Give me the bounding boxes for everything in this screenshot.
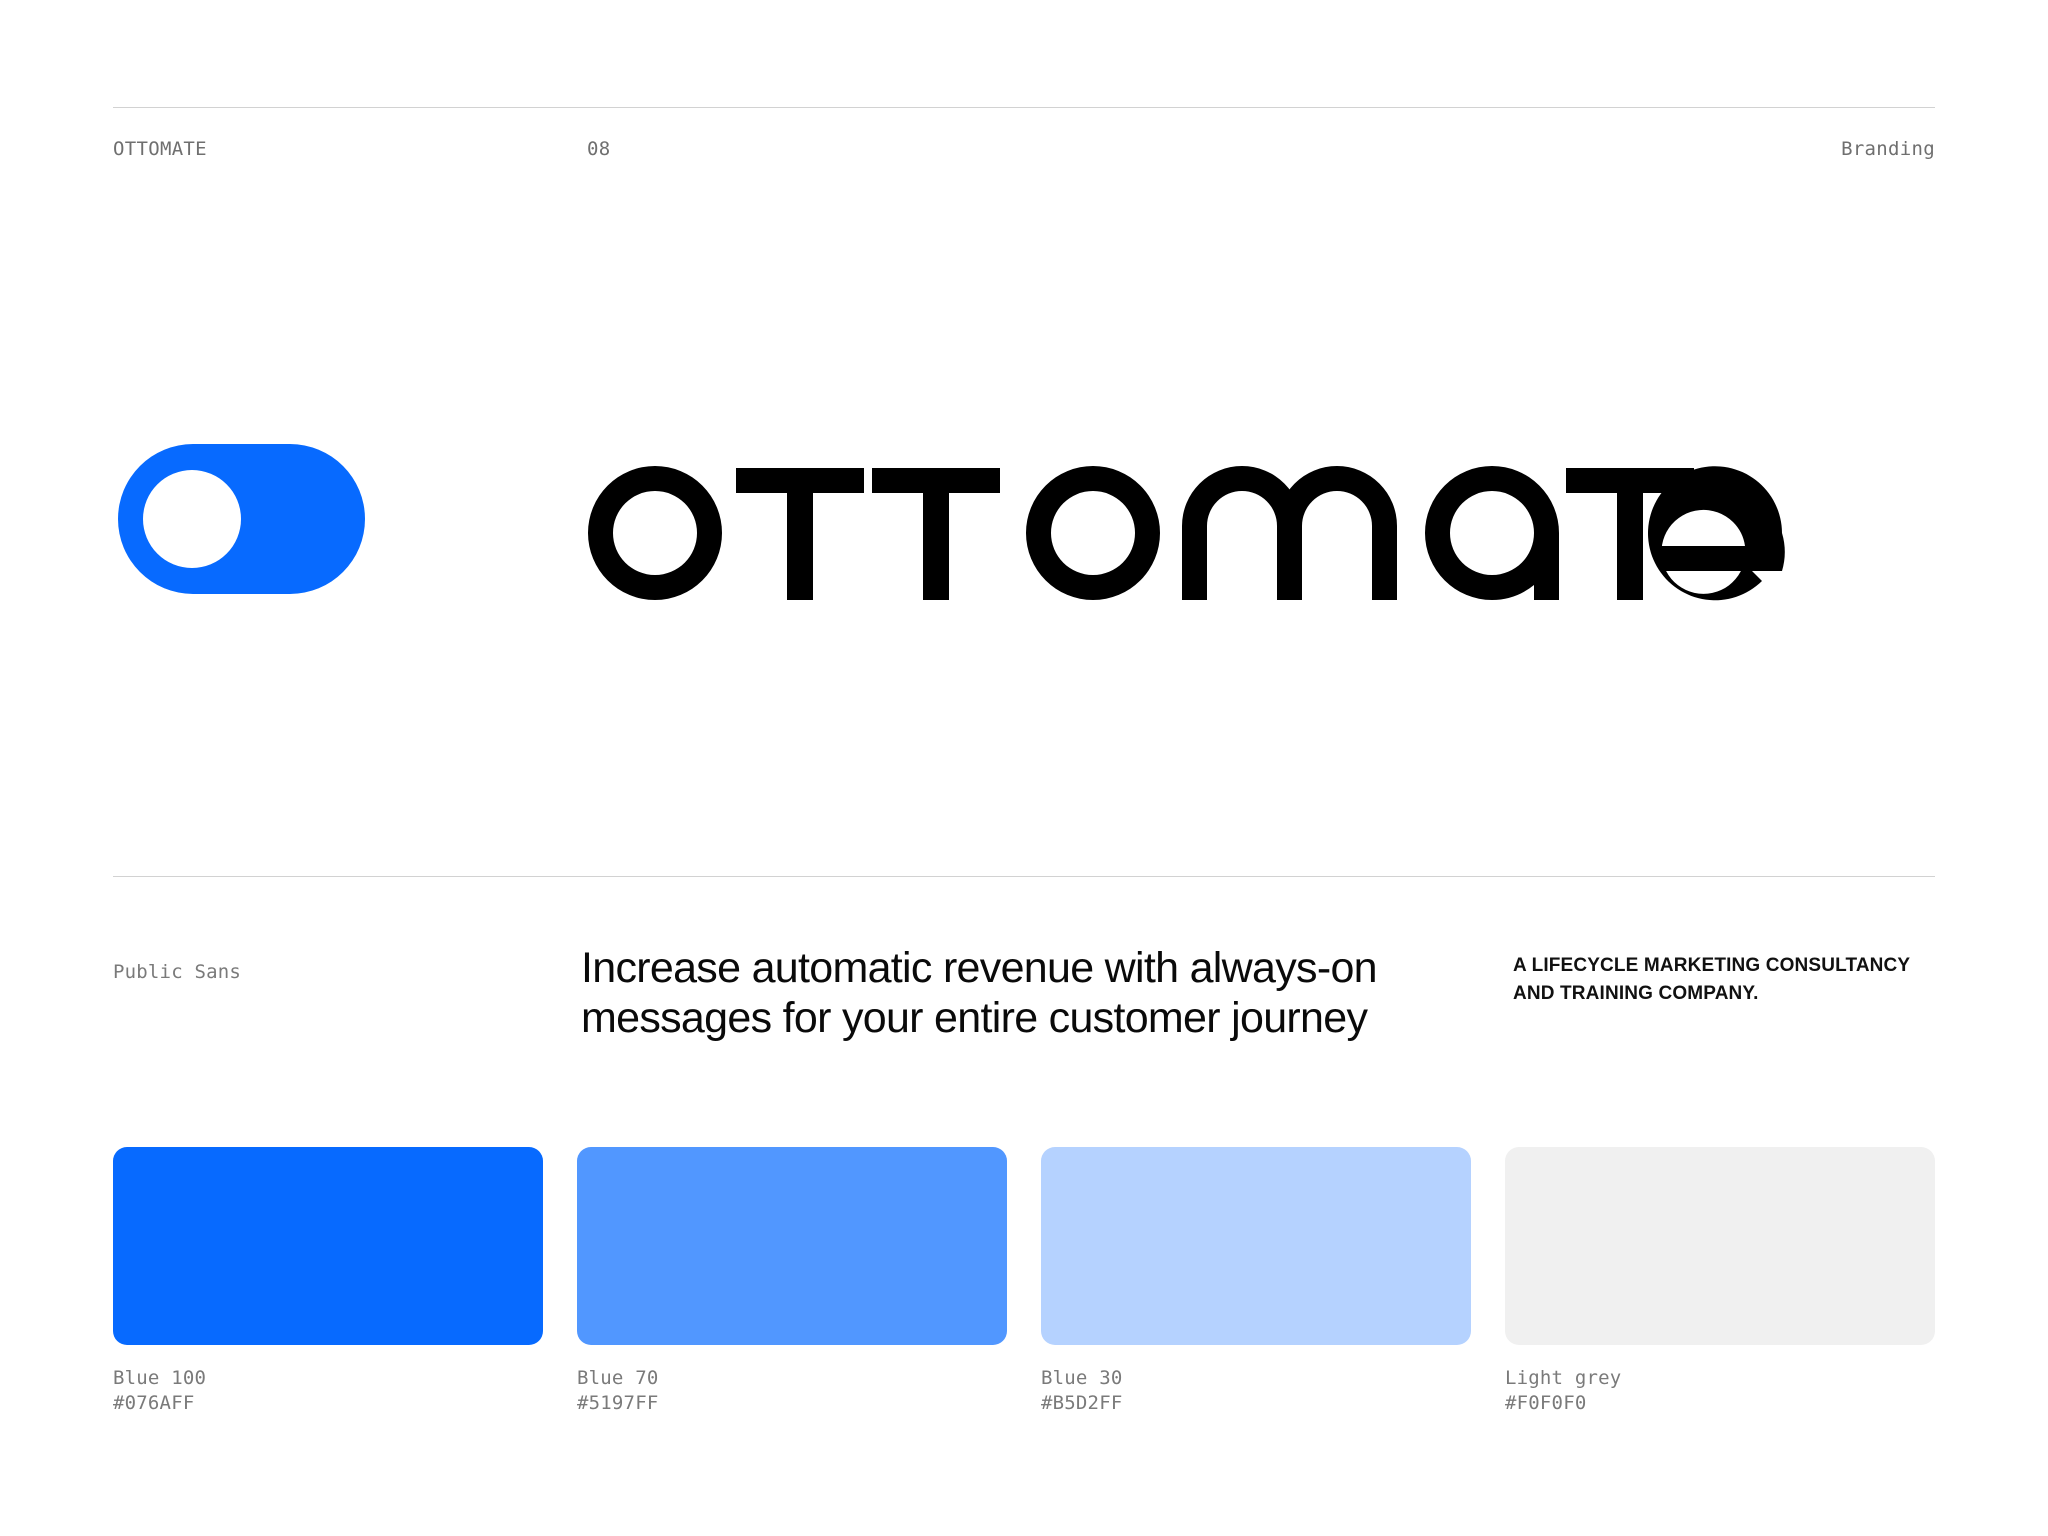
header-divider: [113, 107, 1935, 108]
swatch-name: Blue 30: [1041, 1366, 1471, 1391]
swatch-hex: #B5D2FF: [1041, 1391, 1471, 1416]
swatch-chip-light-grey: [1505, 1147, 1935, 1345]
logo-lockup: [113, 430, 1935, 620]
swatch-name: Light grey: [1505, 1366, 1935, 1391]
typography-section: Public Sans Increase automatic revenue w…: [113, 955, 1935, 1075]
swatch-hex: #5197FF: [577, 1391, 1007, 1416]
header-section-label: Branding: [1841, 138, 1935, 160]
swatch-name: Blue 100: [113, 1366, 543, 1391]
color-swatch: Blue 70 #5197FF: [577, 1147, 1007, 1417]
specimen-line-2: messages for your entire customer journe…: [581, 993, 1381, 1043]
descriptor-line-1: A LIFECYCLE MARKETING CONSULTANCY: [1513, 952, 1933, 980]
page-header: OTTOMATE 08 Branding: [113, 138, 1935, 162]
descriptor-line-2: AND TRAINING COMPANY.: [1513, 980, 1933, 1008]
header-brand-name: OTTOMATE: [113, 138, 207, 160]
section-divider: [113, 876, 1935, 877]
swatch-hex: #076AFF: [113, 1391, 543, 1416]
swatch-meta: Blue 30 #B5D2FF: [1041, 1366, 1471, 1417]
company-descriptor: A LIFECYCLE MARKETING CONSULTANCY AND TR…: [1513, 952, 1933, 1007]
color-swatch: Blue 30 #B5D2FF: [1041, 1147, 1471, 1417]
swatch-meta: Light grey #F0F0F0: [1505, 1366, 1935, 1417]
branding-guideline-page: OTTOMATE 08 Branding: [0, 0, 2048, 1536]
toggle-switch-icon: [118, 444, 365, 594]
swatch-meta: Blue 100 #076AFF: [113, 1366, 543, 1417]
swatch-chip-blue-70: [577, 1147, 1007, 1345]
toggle-knob-icon: [143, 470, 241, 568]
swatch-chip-blue-30: [1041, 1147, 1471, 1345]
swatch-chip-blue-100: [113, 1147, 543, 1345]
swatch-name: Blue 70: [577, 1366, 1007, 1391]
color-swatch: Blue 100 #076AFF: [113, 1147, 543, 1417]
swatch-hex: #F0F0F0: [1505, 1391, 1935, 1416]
typeface-label: Public Sans: [113, 961, 241, 983]
ottomate-wordmark: [560, 430, 1720, 620]
color-palette: Blue 100 #076AFF Blue 70 #5197FF Blue 30…: [113, 1147, 1935, 1417]
header-page-number: 08: [587, 138, 610, 160]
specimen-line-1: Increase automatic revenue with always-o…: [581, 943, 1381, 993]
type-specimen-headline: Increase automatic revenue with always-o…: [581, 943, 1381, 1044]
color-swatch: Light grey #F0F0F0: [1505, 1147, 1935, 1417]
swatch-meta: Blue 70 #5197FF: [577, 1366, 1007, 1417]
